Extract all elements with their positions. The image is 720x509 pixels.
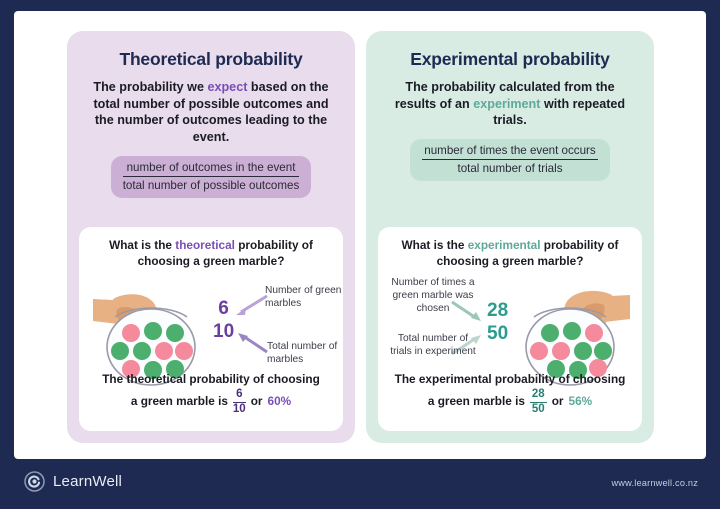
footer: LearnWell www.learnwell.co.nz bbox=[0, 459, 720, 509]
left-note-numerator: Number of green marbles bbox=[265, 285, 355, 311]
left-question-part1: What is the bbox=[109, 238, 175, 252]
marble-pink bbox=[175, 342, 193, 360]
left-conclusion-prefix: a green marble is bbox=[131, 393, 228, 410]
left-desc-part1: The probability we bbox=[93, 80, 207, 94]
panel-experimental-probability: Experimental probability The probability… bbox=[366, 31, 654, 443]
left-conclusion-fraction-numerator: 6 bbox=[234, 389, 244, 402]
left-conclusion-line2: a green marble is 6 10 or 60% bbox=[87, 388, 335, 415]
left-formula-denominator: total number of possible outcomes bbox=[123, 177, 300, 192]
right-fraction-numerator: 28 bbox=[484, 301, 511, 322]
marble-green bbox=[541, 324, 559, 342]
left-question: What is the theoretical probability of c… bbox=[89, 238, 333, 269]
marble-green bbox=[166, 324, 184, 342]
left-formula-pill: number of outcomes in the event total nu… bbox=[111, 156, 312, 198]
right-conclusion-line2: a green marble is 28 50 or 56% bbox=[386, 388, 634, 415]
right-conclusion-prefix: a green marble is bbox=[428, 393, 525, 410]
site-url[interactable]: www.learnwell.co.nz bbox=[611, 478, 698, 488]
right-conclusion-fraction: 28 50 bbox=[530, 389, 547, 416]
marble-pink bbox=[155, 342, 173, 360]
right-conclusion-fraction-numerator: 28 bbox=[530, 389, 547, 402]
left-desc-keyword: expect bbox=[207, 80, 247, 94]
right-note-denominator: Total number of trials in experiment bbox=[390, 333, 476, 359]
left-conclusion-fraction-denominator: 10 bbox=[233, 403, 246, 416]
right-question: What is the experimental probability of … bbox=[388, 238, 632, 269]
infographic-frame: Theoretical probability The probability … bbox=[0, 0, 720, 509]
right-formula-numerator: number of times the event occurs bbox=[422, 144, 597, 160]
right-conclusion-line1: The experimental probability of choosing bbox=[386, 371, 634, 388]
right-note-numerator: Number of times a green marble was chose… bbox=[390, 277, 476, 315]
marble-green bbox=[574, 342, 592, 360]
marble-pink bbox=[122, 324, 140, 342]
brand-name: LearnWell bbox=[53, 473, 122, 490]
left-note-denominator: Total number of marbles bbox=[267, 341, 357, 367]
left-fraction: 6 10 bbox=[213, 299, 234, 341]
left-arrow-to-numerator-icon bbox=[233, 293, 269, 317]
right-panel-description: The probability calculated from the resu… bbox=[376, 79, 644, 129]
left-conclusion-fraction: 6 10 bbox=[233, 389, 246, 416]
right-fraction: 28 50 bbox=[484, 301, 511, 343]
marble-pink bbox=[552, 342, 570, 360]
marble-green bbox=[144, 322, 162, 340]
left-arrow-to-denominator-icon bbox=[235, 331, 271, 355]
right-example-card: What is the experimental probability of … bbox=[378, 227, 642, 431]
panel-theoretical-probability: Theoretical probability The probability … bbox=[67, 31, 355, 443]
left-panel-title: Theoretical probability bbox=[77, 49, 345, 70]
right-formula-denominator: total number of trials bbox=[422, 160, 597, 175]
content-canvas: Theoretical probability The probability … bbox=[14, 11, 706, 459]
right-question-part1: What is the bbox=[402, 238, 468, 252]
left-conclusion-or: or bbox=[251, 393, 263, 410]
marble-green bbox=[563, 322, 581, 340]
right-question-keyword: experimental bbox=[468, 238, 541, 252]
marble-pink bbox=[585, 324, 603, 342]
right-conclusion-percent: 56% bbox=[569, 393, 593, 410]
right-formula-pill: number of times the event occurs total n… bbox=[410, 139, 609, 181]
right-conclusion: The experimental probability of choosing… bbox=[386, 371, 634, 415]
marble-green bbox=[133, 342, 151, 360]
left-fraction-numerator: 6 bbox=[213, 299, 234, 320]
marble-pink bbox=[530, 342, 548, 360]
spiral-circle-logo-icon bbox=[24, 471, 45, 492]
marble-green bbox=[111, 342, 129, 360]
right-panel-title: Experimental probability bbox=[376, 49, 644, 70]
right-desc-keyword: experiment bbox=[473, 97, 540, 111]
right-conclusion-or: or bbox=[552, 393, 564, 410]
right-fraction-denominator: 50 bbox=[484, 322, 511, 343]
left-formula-numerator: number of outcomes in the event bbox=[123, 161, 300, 177]
left-conclusion-percent: 60% bbox=[268, 393, 292, 410]
brand-lockup[interactable]: LearnWell bbox=[24, 471, 122, 492]
marble-green bbox=[594, 342, 612, 360]
right-conclusion-fraction-denominator: 50 bbox=[532, 403, 545, 416]
left-fraction-denominator: 10 bbox=[213, 320, 234, 341]
left-panel-description: The probability we expect based on the t… bbox=[77, 79, 345, 146]
left-example-card: What is the theoretical probability of c… bbox=[79, 227, 343, 431]
left-conclusion-line1: The theoretical probability of choosing bbox=[87, 371, 335, 388]
left-conclusion: The theoretical probability of choosing … bbox=[87, 371, 335, 415]
left-question-keyword: theoretical bbox=[175, 238, 235, 252]
